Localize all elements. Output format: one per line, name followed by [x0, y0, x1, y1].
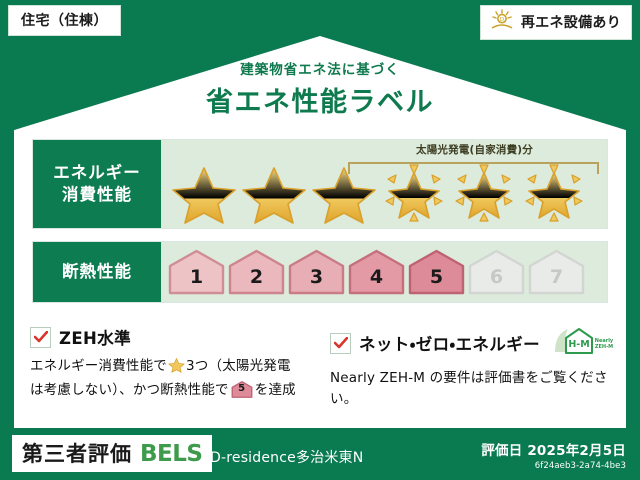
star-5-solar — [450, 163, 518, 225]
zeh-text-d: を達成 — [255, 382, 296, 398]
insulation-level-4-number: 4 — [370, 266, 383, 295]
check-icon-nze — [330, 333, 351, 354]
zeh-text-c: は考慮しない）、かつ断熱性能で — [30, 382, 229, 398]
net-zero-energy-block: ネット・ゼロ・エネルギー H-M Nearly ZEH-M Nearly ZEH… — [330, 325, 620, 410]
zeh-standard-text: エネルギー消費性能で3つ（太陽光発電 は考慮しない）、かつ断熱性能で5を達成 — [30, 356, 320, 401]
energy-stars-area: 太陽光発電(自家消費)分 — [162, 139, 608, 229]
energy-performance-row: エネルギー 消費性能 太陽光発電(自家消費)分 — [32, 139, 608, 229]
record-id: 6f24aeb3-2a74-4be3 — [481, 461, 626, 471]
bels-jp-text: 第三者評価 — [22, 438, 132, 468]
energy-performance-label: 住宅（住棟） D 再エネ設備あり 建築物省エネ法に基づく 省エネ性能ラベル — [0, 0, 640, 480]
zeh-standard-title: ZEH水準 — [59, 325, 131, 349]
label-subtitle: 建築物省エネ法に基づく — [0, 58, 640, 78]
zeh-text-a: エネルギー消費性能で — [30, 358, 167, 374]
bels-en-text: BELS — [140, 441, 202, 467]
insulation-level-5: 5 — [408, 249, 465, 295]
zeh-text-b: 3つ（太陽光発電 — [186, 358, 291, 374]
net-zero-energy-title: ネット・ゼロ・エネルギー — [359, 331, 540, 355]
insulation-level-3-number: 3 — [310, 266, 323, 295]
star-6-solar — [520, 163, 588, 225]
svg-text:ZEH-M: ZEH-M — [595, 344, 613, 350]
insulation-level-4: 4 — [348, 249, 405, 295]
net-zero-energy-header: ネット・ゼロ・エネルギー H-M Nearly ZEH-M — [330, 325, 620, 361]
svg-text:D: D — [500, 17, 504, 23]
bels-badge: 第三者評価 BELS — [12, 435, 212, 472]
energy-performance-label-box: エネルギー 消費性能 — [32, 139, 162, 229]
insulation-level-7: 7 — [528, 249, 585, 295]
insulation-level-1: 1 — [168, 249, 225, 295]
energy-label-line2: 消費性能 — [62, 184, 132, 206]
insulation-level-2-number: 2 — [250, 266, 263, 295]
inline-star-icon — [168, 357, 185, 380]
inline-insulation-badge-number: 5 — [231, 381, 253, 397]
insulation-level-1-number: 1 — [190, 266, 203, 295]
star-rating — [162, 164, 607, 224]
insulation-level-5-number: 5 — [430, 266, 443, 295]
building-type-text: 住宅（住棟） — [21, 13, 108, 29]
star-1 — [170, 163, 238, 225]
insulation-performance-row: 断熱性能 1 2 3 4 — [32, 241, 608, 303]
sun-icon: D — [489, 9, 515, 35]
building-name: D-residence多治米東N — [210, 447, 363, 467]
energy-label-line1: エネルギー — [53, 162, 141, 184]
star-2 — [240, 163, 308, 225]
insulation-level-scale: 1 2 3 4 5 — [162, 242, 607, 302]
zeh-standard-block: ZEH水準 エネルギー消費性能で3つ（太陽光発電 は考慮しない）、かつ断熱性能で… — [30, 325, 320, 401]
insulation-levels-area: 1 2 3 4 5 — [162, 241, 608, 303]
renewable-energy-badge: D 再エネ設備あり — [480, 5, 632, 40]
renewable-badge-text: 再エネ設備あり — [521, 12, 621, 32]
insulation-performance-label-box: 断熱性能 — [32, 241, 162, 303]
insulation-label-line1: 断熱性能 — [62, 261, 132, 283]
insulation-level-7-number: 7 — [550, 266, 563, 295]
zeh-standard-header: ZEH水準 — [30, 325, 320, 349]
insulation-level-3: 3 — [288, 249, 345, 295]
inline-insulation-badge: 5 — [231, 381, 253, 398]
solar-caption: 太陽光発電(自家消費)分 — [342, 142, 607, 157]
label-title: 省エネ性能ラベル — [0, 80, 640, 119]
net-zero-energy-text: Nearly ZEH-M の要件は評価書をご覧ください。 — [330, 368, 620, 410]
evaluation-date: 評価日 2025年2月5日 — [481, 439, 626, 459]
check-icon-zeh — [30, 327, 51, 348]
zeh-m-logo: H-M Nearly ZEH-M — [552, 325, 614, 361]
building-type-badge: 住宅（住棟） — [8, 5, 121, 36]
insulation-level-6: 6 — [468, 249, 525, 295]
insulation-level-6-number: 6 — [490, 266, 503, 295]
svg-text:H-M: H-M — [568, 339, 589, 350]
insulation-level-2: 2 — [228, 249, 285, 295]
evaluation-info: 評価日 2025年2月5日 6f24aeb3-2a74-4be3 — [481, 439, 626, 471]
star-4-solar — [380, 163, 448, 225]
star-3 — [310, 163, 378, 225]
